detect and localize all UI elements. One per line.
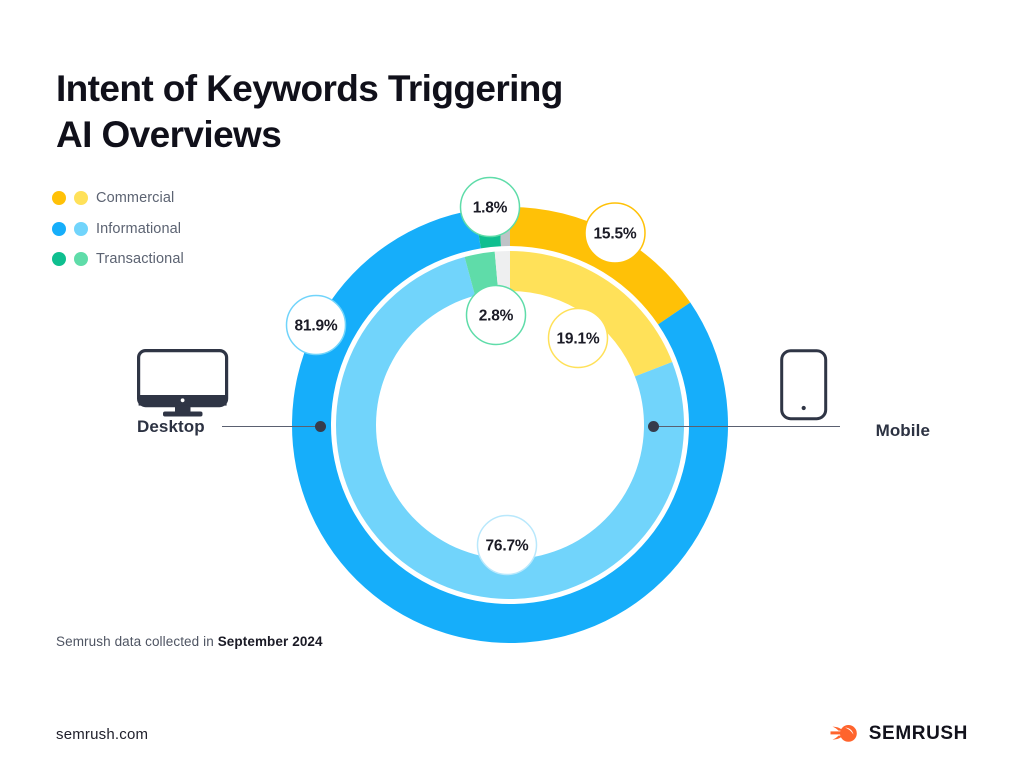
value-bubble-outer-commercial: 15.5% [585,203,645,263]
legend-dot-inner-icon [74,222,88,236]
semrush-logo-icon [830,722,860,746]
desktop-leader-line [222,426,320,427]
legend-dot-inner-icon [74,191,88,205]
value-bubble-inner-informational: 76.7% [478,516,537,575]
mobile-anchor-dot [648,421,659,432]
phone-icon [780,349,930,421]
legend-label: Commercial [96,190,174,206]
desktop-callout: Desktop [137,349,327,437]
mobile-leader-line [654,426,840,427]
mobile-label: Mobile [780,421,930,441]
legend-dot-outer-icon [52,252,66,266]
value-bubble-outer-informational: 81.9% [287,296,346,355]
legend-item-informational: Informational [52,214,184,245]
nested-donut-chart: 15.5%81.9%1.8%19.1%76.7%2.8% [272,187,748,663]
legend-item-commercial: Commercial [52,183,184,214]
semrush-brand: SEMRUSH [830,722,968,746]
page-title-line-1: Intent of Keywords Triggering [56,68,563,109]
legend-dot-outer-icon [52,191,66,205]
legend-swatch-pair [52,252,96,266]
value-bubble-outer-transactional: 1.8% [461,178,520,237]
website-url[interactable]: semrush.com [56,726,148,743]
bubble-value: 1.8% [473,200,508,217]
page-title: Intent of Keywords Triggering AI Overvie… [56,66,756,158]
note-date: September 2024 [218,634,323,649]
monitor-icon [137,349,327,417]
legend-swatch-pair [52,222,96,236]
legend-label: Transactional [96,251,184,267]
page-title-line-2: AI Overviews [56,112,756,158]
chart-legend: CommercialInformationalTransactional [52,183,184,275]
desktop-anchor-dot [315,421,326,432]
legend-label: Informational [96,221,181,237]
legend-dot-inner-icon [74,252,88,266]
infographic-canvas: Intent of Keywords Triggering AI Overvie… [0,0,1024,764]
donut-svg: 15.5%81.9%1.8%19.1%76.7%2.8% [272,187,748,663]
bubble-value: 19.1% [557,331,600,348]
legend-item-transactional: Transactional [52,244,184,275]
data-source-note: Semrush data collected in September 2024 [56,634,323,649]
semrush-wordmark: SEMRUSH [869,723,968,745]
bubble-value: 2.8% [479,308,514,325]
value-bubble-inner-transactional: 2.8% [467,286,526,345]
value-bubble-inner-commercial: 19.1% [549,309,608,368]
note-prefix: Semrush data collected in [56,634,218,649]
bubble-value: 81.9% [295,318,338,335]
bubble-value: 76.7% [486,538,529,555]
legend-dot-outer-icon [52,222,66,236]
legend-swatch-pair [52,191,96,205]
bubble-value: 15.5% [594,226,637,243]
